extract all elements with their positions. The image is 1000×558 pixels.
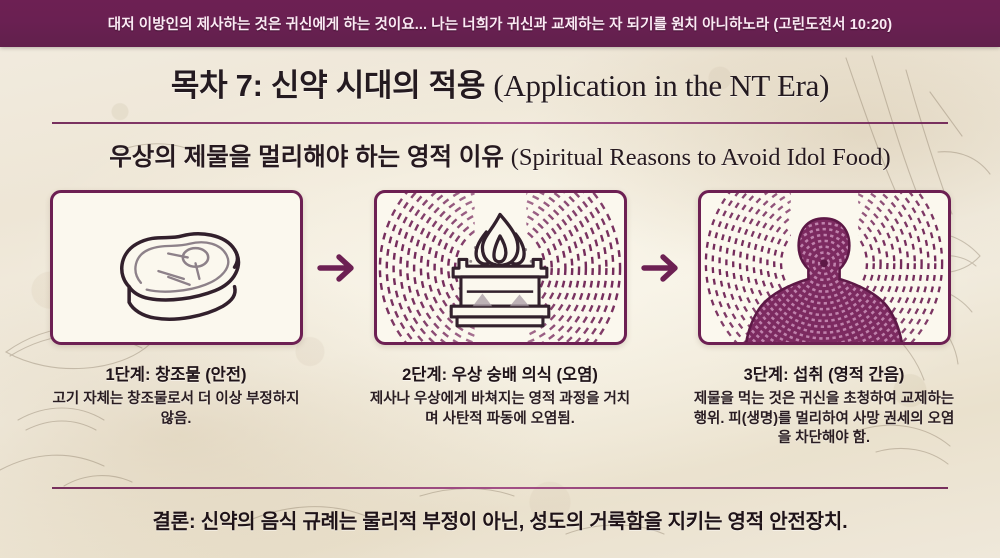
page-subtitle-ko: 우상의 제물을 멀리해야 하는 영적 이유 [109, 144, 510, 171]
human-silhouette-icon [701, 193, 948, 344]
step-2: 2단계: 우상 숭배 의식 (오염) 제사나 우상에게 바쳐지는 영적 과정을 … [366, 190, 634, 429]
step-3-panel [698, 190, 951, 345]
step-2-description: 제사나 우상에게 바쳐지는 영적 과정을 거치며 사탄적 파동에 오염됨. [369, 390, 631, 429]
arrow-right-2-icon [634, 190, 690, 345]
conclusion-text: 결론: 신약의 음식 규례는 물리적 부정이 아닌, 성도의 거룩함을 지키는 … [0, 505, 1000, 534]
step-3: 3단계: 섭취 (영적 간음) 제물을 먹는 것은 귀신을 초청하여 교제하는 … [690, 190, 958, 449]
steps-row: 1단계: 창조물 (안전) 고기 자체는 창조물로서 더 이상 부정하지 않음. [0, 190, 1000, 480]
page-title-ko: 목차 7: 신약 시대의 적용 [171, 68, 494, 103]
step-1-description: 고기 자체는 창조물로서 더 이상 부정하지 않음. [45, 390, 307, 429]
page-title: 목차 7: 신약 시대의 적용 (Application in the NT E… [0, 60, 1000, 105]
arrow-right-1-icon [310, 190, 366, 345]
divider-top [52, 122, 948, 124]
scripture-verse-band: 대저 이방인의 제사하는 것은 귀신에게 하는 것이요... 나는 너희가 귀신… [0, 0, 1000, 47]
meat-cut-icon [53, 193, 300, 344]
step-2-panel [374, 190, 627, 345]
step-1-title: 1단계: 창조물 (안전) [105, 361, 246, 385]
step-1: 1단계: 창조물 (안전) 고기 자체는 창조물로서 더 이상 부정하지 않음. [42, 190, 310, 429]
scripture-verse-text: 대저 이방인의 제사하는 것은 귀신에게 하는 것이요... 나는 너희가 귀신… [108, 13, 892, 34]
divider-bottom [52, 487, 948, 489]
step-1-panel [50, 190, 303, 345]
step-3-description: 제물을 먹는 것은 귀신을 초청하여 교제하는 행위. 피(생명)를 멀리하여 … [693, 390, 955, 449]
page-subtitle-en: (Spiritual Reasons to Avoid Idol Food) [511, 144, 891, 171]
page-subtitle: 우상의 제물을 멀리해야 하는 영적 이유 (Spiritual Reasons… [0, 138, 1000, 173]
slide-root: 대저 이방인의 제사하는 것은 귀신에게 하는 것이요... 나는 너희가 귀신… [0, 0, 1000, 558]
step-2-title: 2단계: 우상 숭배 의식 (오염) [402, 361, 598, 385]
step-3-title: 3단계: 섭취 (영적 간음) [744, 361, 905, 385]
page-title-en: (Application in the NT Era) [493, 68, 829, 103]
title-block: 목차 7: 신약 시대의 적용 (Application in the NT E… [0, 60, 1000, 105]
burning-altar-icon [377, 193, 624, 344]
